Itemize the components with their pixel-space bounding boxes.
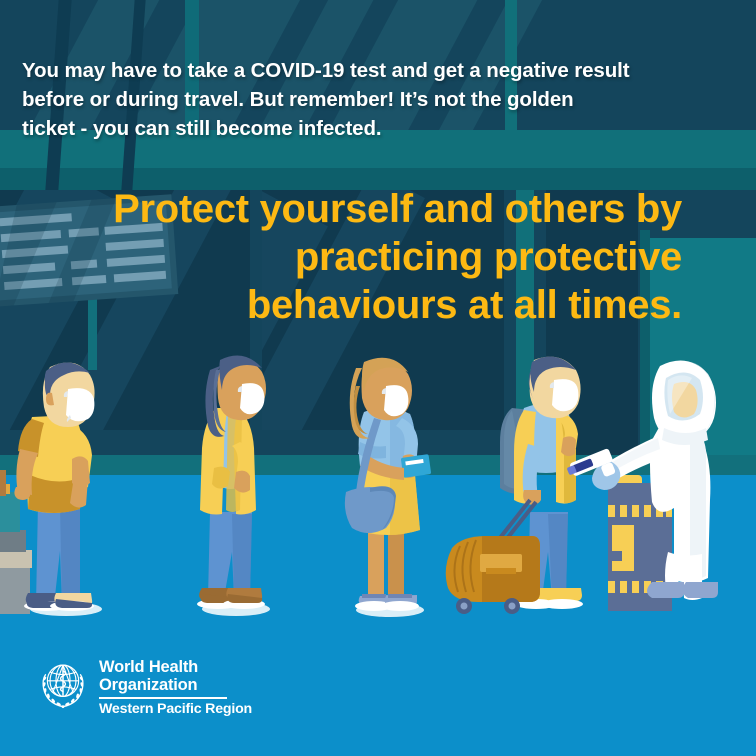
logo-region: Western Pacific Region [99,701,252,717]
who-covid-travel-poster: You may have to take a COVID-19 test and… [0,0,756,756]
traveller-2 [190,352,300,620]
headline-line-1: Protect yourself and others by [62,185,682,233]
who-emblem [36,657,90,711]
who-logo: World Health Organization Western Pacifi… [36,657,252,717]
body-copy-line-1: You may have to take a COVID-19 test and… [22,56,682,85]
logo-divider [99,697,227,699]
logo-org-line-2: Organization [99,677,252,695]
body-copy-line-2: before or during travel. But remember! I… [22,85,682,114]
logo-org-line-1: World Health [99,659,252,677]
body-copy-line-3: ticket - you can still become infected. [22,114,682,143]
headline: Protect yourself and others by practicin… [62,185,682,329]
rolling-suitcase [438,520,558,620]
traveller-1 [10,355,130,620]
headline-line-3: behaviours at all times. [62,281,682,329]
health-worker [588,352,756,620]
headline-line-2: practicing protective [62,233,682,281]
body-copy: You may have to take a COVID-19 test and… [22,56,682,143]
